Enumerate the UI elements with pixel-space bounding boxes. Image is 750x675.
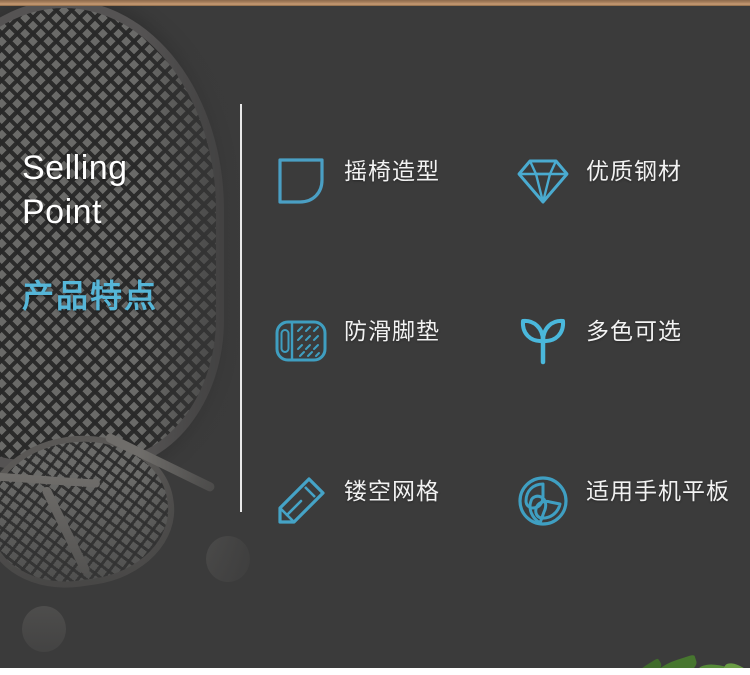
sprout-icon — [514, 312, 572, 370]
feature-label-1: 摇椅造型 — [344, 158, 440, 184]
feature-body-1: 摇椅造型 — [344, 150, 440, 186]
top-wood-strip — [0, 0, 750, 6]
feature-item-6: 适用手机平板 — [514, 470, 742, 630]
chair-shape-icon — [272, 152, 330, 210]
page-title-chinese: 产品特点 — [22, 276, 232, 316]
feature-body-5: 镂空网格 — [344, 470, 440, 506]
diamond-icon — [514, 152, 572, 210]
feature-item-4: 多色可选 — [514, 310, 742, 470]
pencil-icon — [272, 472, 330, 530]
feature-item-3: 防滑脚垫 — [272, 310, 500, 470]
title-block: Selling Point 产品特点 — [22, 146, 232, 316]
feature-label-4: 多色可选 — [586, 318, 682, 344]
chair-background-image — [0, 6, 268, 668]
product-feature-banner: Selling Point 产品特点 摇椅造型 — [0, 0, 750, 675]
feature-label-5: 镂空网格 — [344, 478, 440, 504]
feature-label-2: 优质钢材 — [586, 158, 682, 184]
feature-body-2: 优质钢材 — [586, 150, 682, 186]
background-fade-right — [140, 6, 268, 668]
bottom-white-strip — [0, 668, 750, 675]
feature-label-6: 适用手机平板 — [586, 478, 730, 504]
aperture-icon — [514, 472, 572, 530]
foot-pad-icon — [272, 312, 330, 370]
page-title-english-line1: Selling — [22, 146, 232, 190]
feature-item-2: 优质钢材 — [514, 150, 742, 310]
feature-item-1: 摇椅造型 — [272, 150, 500, 310]
feature-body-3: 防滑脚垫 — [344, 310, 440, 346]
page-title-english-line2: Point — [22, 190, 232, 234]
feature-list: 摇椅造型 优质钢材 — [272, 150, 742, 580]
feature-body-6: 适用手机平板 — [586, 470, 730, 506]
feature-label-3: 防滑脚垫 — [344, 318, 440, 344]
feature-item-5: 镂空网格 — [272, 470, 500, 630]
vertical-divider — [240, 104, 242, 512]
feature-body-4: 多色可选 — [586, 310, 682, 346]
